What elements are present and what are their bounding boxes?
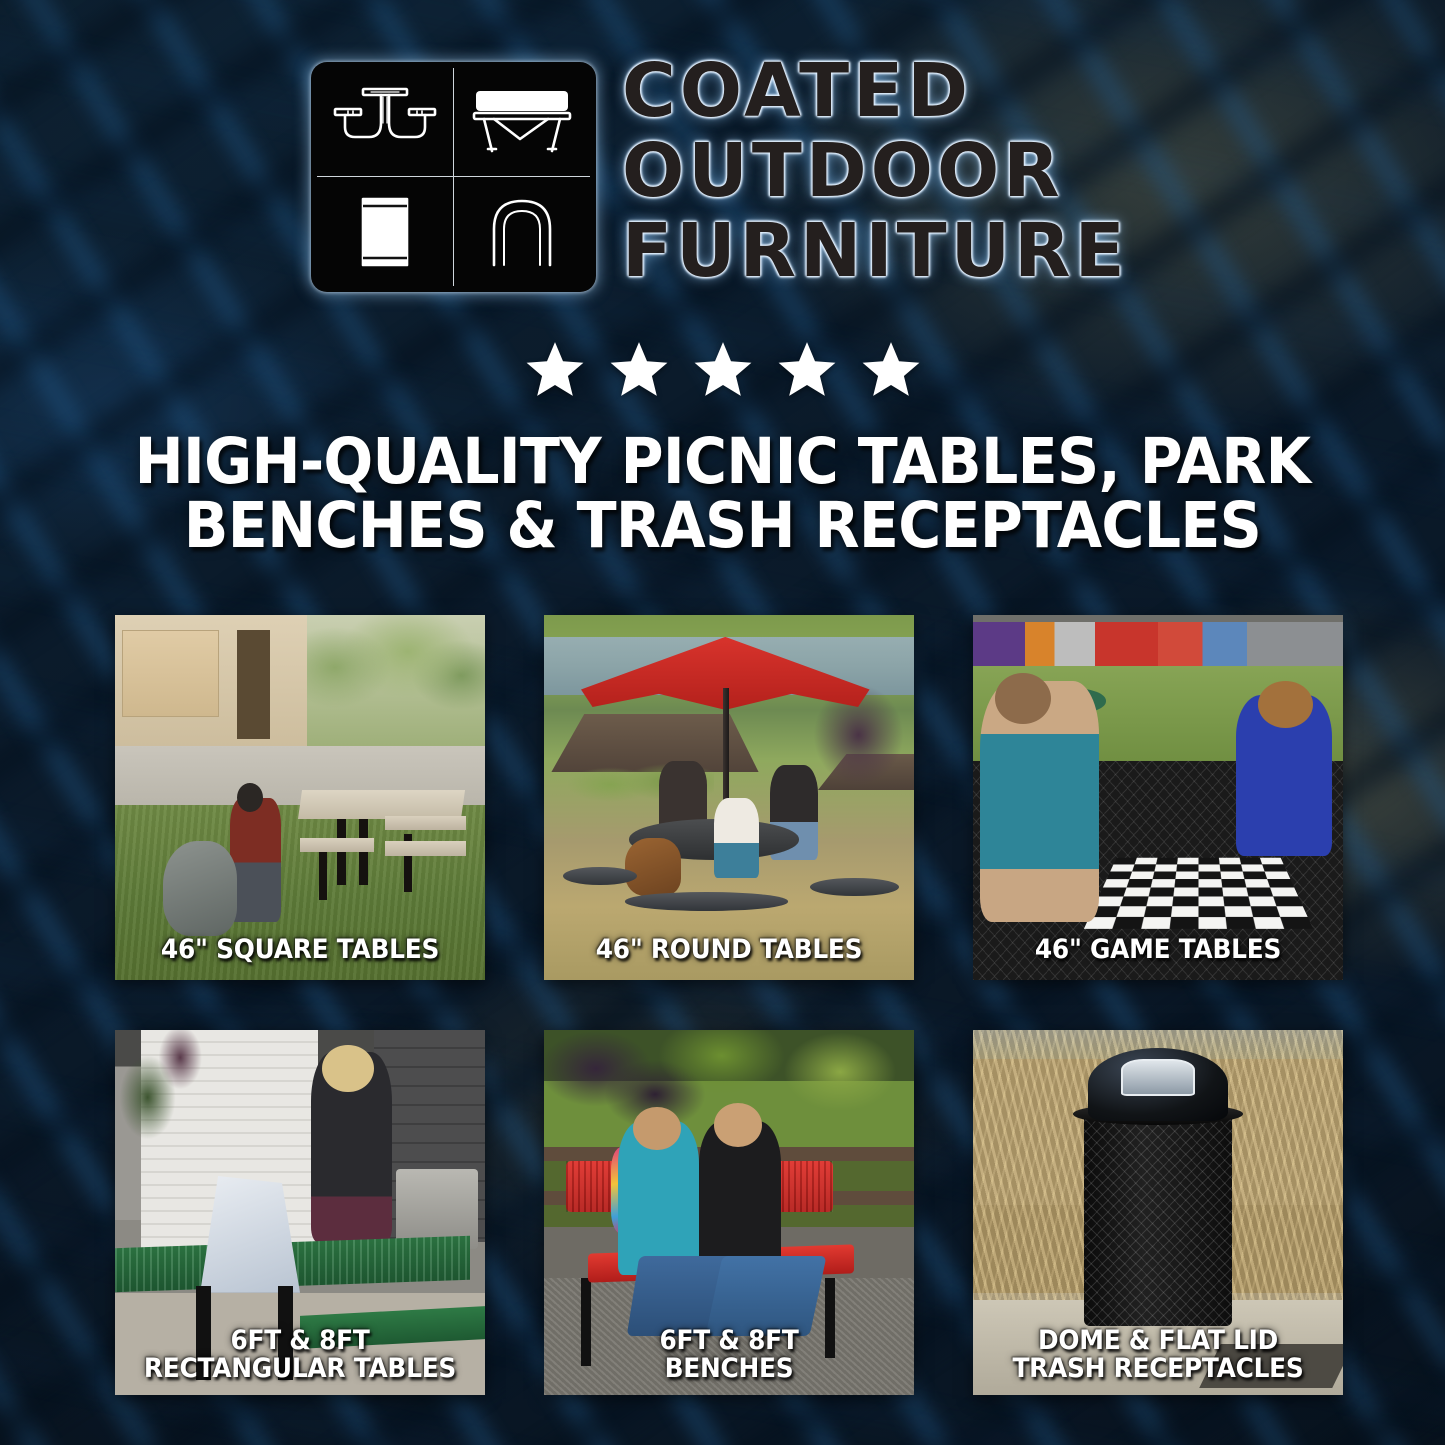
logo-icon-grid (311, 62, 596, 292)
product-tile-trash-receptacles[interactable]: DOME & FLAT LID TRASH RECEPTACLES (973, 1030, 1343, 1395)
tile-caption: 6FT & 8FT RECTANGULAR TABLES (135, 1327, 464, 1383)
star-rating (0, 339, 1445, 401)
brand-wordmark: COATED OUTDOOR FURNITURE (622, 56, 1134, 287)
tile-caption: 6FT & 8FT BENCHES (564, 1327, 893, 1383)
star-icon-4 (776, 339, 838, 401)
star-icon-3 (692, 339, 754, 401)
brand-line-coated: COATED (622, 56, 972, 128)
product-tile-benches[interactable]: 6FT & 8FT BENCHES (544, 1030, 914, 1395)
tile-caption: 46" GAME TABLES (993, 936, 1322, 964)
brand-line-furniture: FURNITURE (622, 216, 1129, 288)
star-icon-1 (524, 339, 586, 401)
tile-caption: 46" ROUND TABLES (564, 936, 893, 964)
photo-round-tables (544, 615, 914, 980)
photo-game-tables (973, 615, 1343, 980)
star-icon-2 (608, 339, 670, 401)
product-tile-rectangular-tables[interactable]: 6FT & 8FT RECTANGULAR TABLES (115, 1030, 485, 1395)
product-tile-square-tables[interactable]: 46" SQUARE TABLES (115, 615, 485, 980)
product-tile-grid: 46" SQUARE TABLES (115, 615, 1333, 1395)
product-tile-game-tables[interactable]: 46" GAME TABLES (973, 615, 1343, 980)
product-tile-round-tables[interactable]: 46" ROUND TABLES (544, 615, 914, 980)
brand-line-outdoor: OUTDOOR (622, 136, 1064, 208)
brand-logo: COATED OUTDOOR FURNITURE (0, 62, 1445, 292)
trash-receptacle-icon (317, 177, 454, 286)
bike-rack-arch-icon (454, 177, 591, 286)
page-headline: HIGH-QUALITY PICNIC TABLES, PARK BENCHES… (106, 430, 1338, 559)
photo-square-tables (115, 615, 485, 980)
picnic-table-icon (317, 68, 454, 177)
marketing-poster: COATED OUTDOOR FURNITURE HIGH-QUALITY PI… (0, 0, 1445, 1445)
tile-caption: 46" SQUARE TABLES (135, 936, 464, 964)
star-icon-5 (860, 339, 922, 401)
tile-caption: DOME & FLAT LID TRASH RECEPTACLES (993, 1327, 1322, 1383)
bench-table-icon (454, 68, 591, 177)
